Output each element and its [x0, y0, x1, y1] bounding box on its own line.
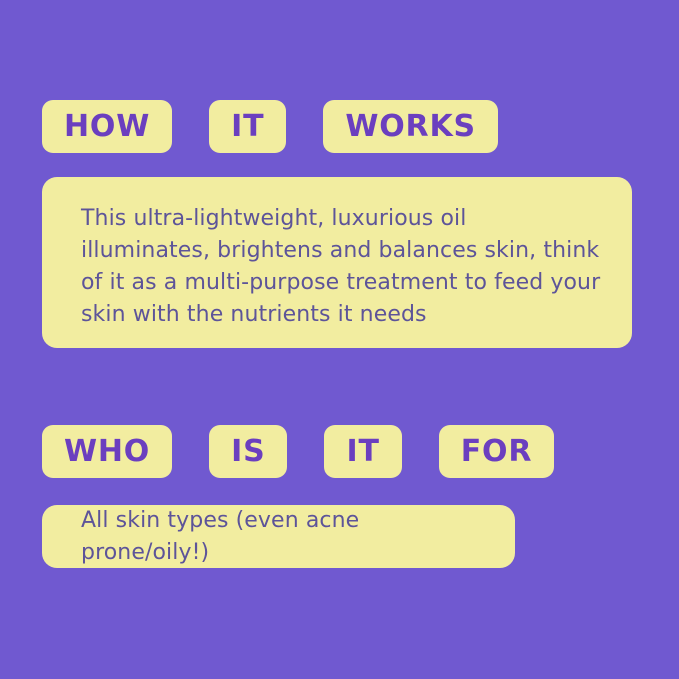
- heading-pill-it-2: IT: [324, 425, 401, 478]
- how-it-works-body-text: This ultra-lightweight, luxurious oil il…: [81, 203, 602, 331]
- how-it-works-heading: HOW IT WORKS: [42, 100, 498, 153]
- heading-pill-for: FOR: [439, 425, 555, 478]
- who-is-it-for-heading: WHO IS IT FOR: [42, 425, 554, 478]
- heading-pill-works: WORKS: [323, 100, 498, 153]
- heading-pill-who: WHO: [42, 425, 172, 478]
- who-is-it-for-body-text: All skin types (even acne prone/oily!): [81, 505, 485, 569]
- heading-pill-it: IT: [209, 100, 286, 153]
- how-it-works-card: This ultra-lightweight, luxurious oil il…: [42, 177, 632, 348]
- product-info-infographic: HOW IT WORKS This ultra-lightweight, lux…: [0, 0, 679, 679]
- heading-pill-is: IS: [209, 425, 287, 478]
- who-is-it-for-card: All skin types (even acne prone/oily!): [42, 505, 515, 568]
- heading-pill-how: HOW: [42, 100, 172, 153]
